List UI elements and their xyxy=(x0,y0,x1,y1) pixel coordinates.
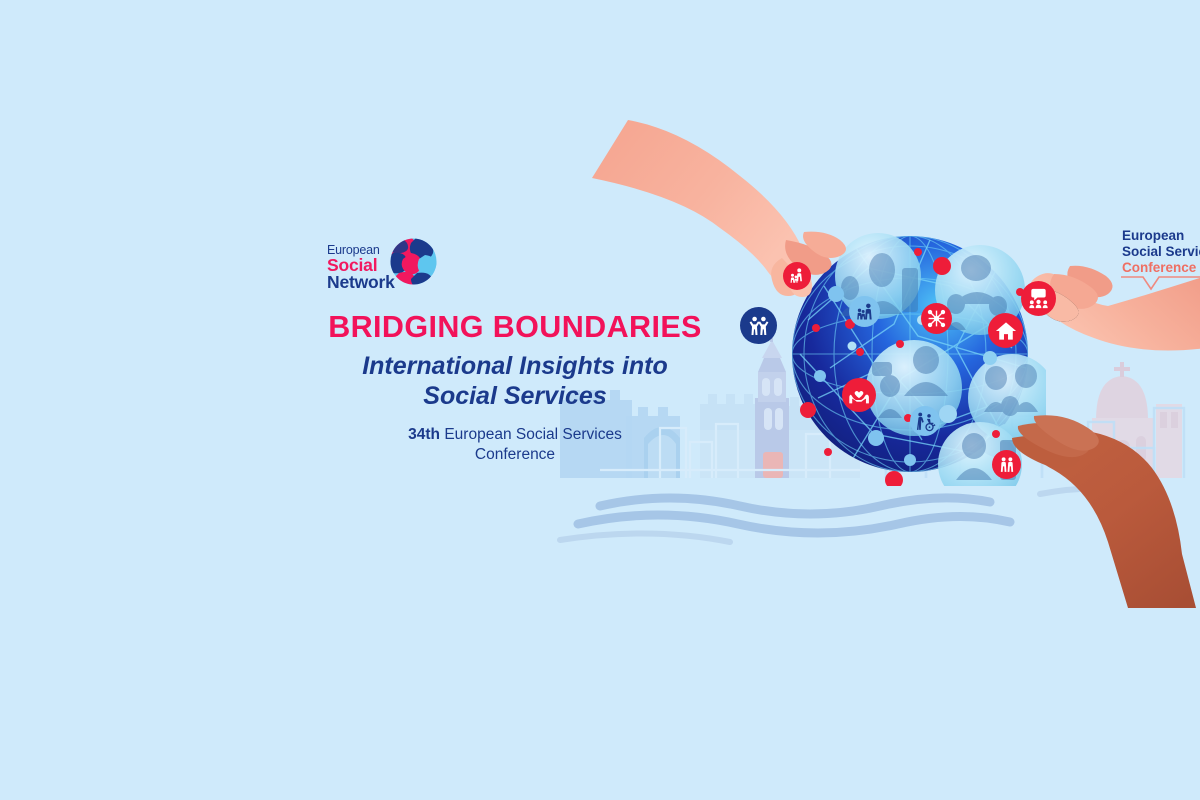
speech-bubble-tail-icon xyxy=(1121,275,1200,297)
water-waves xyxy=(578,498,1010,533)
hands-holding-heart-chip[interactable] xyxy=(842,378,876,412)
page-title: BRIDGING BOUNDARIES xyxy=(300,310,730,344)
water-waves-secondary xyxy=(560,488,1140,542)
parent-and-children-chip[interactable] xyxy=(783,262,811,290)
group-speech-bubble-chip[interactable] xyxy=(1021,281,1056,316)
event-meta-line1: 34th European Social Services xyxy=(300,425,730,445)
house-chip[interactable] xyxy=(988,313,1023,348)
page-subtitle-line1: International Insights into xyxy=(300,352,730,382)
essc-logo-line1: European xyxy=(1122,228,1200,244)
event-meta-rest: European Social Services xyxy=(440,426,622,443)
wheelchair-carer-chip[interactable] xyxy=(910,406,940,436)
conference-banner: European Social Network European Social … xyxy=(0,0,1200,800)
family-group-icon xyxy=(855,302,875,322)
two-figures-icon xyxy=(998,456,1016,474)
people-network-icon xyxy=(926,308,947,329)
event-meta-line2: Conference xyxy=(300,445,730,465)
essc-logo[interactable]: European Social Services Conference xyxy=(1122,228,1200,276)
cathedral-tower-landmark xyxy=(755,330,789,478)
two-people-celebrating-icon xyxy=(747,314,771,338)
house-icon xyxy=(995,320,1017,342)
esn-logo[interactable]: European Social Network xyxy=(327,236,439,300)
page-subtitle: International Insights into Social Servi… xyxy=(300,352,730,411)
hands-holding-heart-icon xyxy=(848,384,870,406)
esn-globe-icon xyxy=(389,237,438,286)
wheelchair-carer-icon xyxy=(915,411,936,432)
esn-wordmark: European Social Network xyxy=(327,244,395,292)
essc-logo-line3: Conference xyxy=(1122,260,1200,276)
two-figures-chip[interactable] xyxy=(992,450,1021,479)
network-globe xyxy=(790,228,1046,486)
people-network-chip[interactable] xyxy=(921,303,952,334)
celebrate-badge[interactable] xyxy=(740,307,777,344)
family-group-chip[interactable] xyxy=(849,296,880,327)
event-meta: 34th European Social Services Conference xyxy=(300,425,730,464)
headline-block: BRIDGING BOUNDARIES International Insigh… xyxy=(300,310,730,464)
essc-logo-line2: Social Services xyxy=(1122,244,1200,260)
page-subtitle-line2: Social Services xyxy=(300,382,730,412)
parent-and-children-icon xyxy=(788,267,806,285)
event-ordinal: 34th xyxy=(408,426,440,443)
domed-church-landmark xyxy=(1066,362,1182,478)
esn-logo-line3: Network xyxy=(327,274,395,292)
group-speech-bubble-icon xyxy=(1027,287,1050,310)
